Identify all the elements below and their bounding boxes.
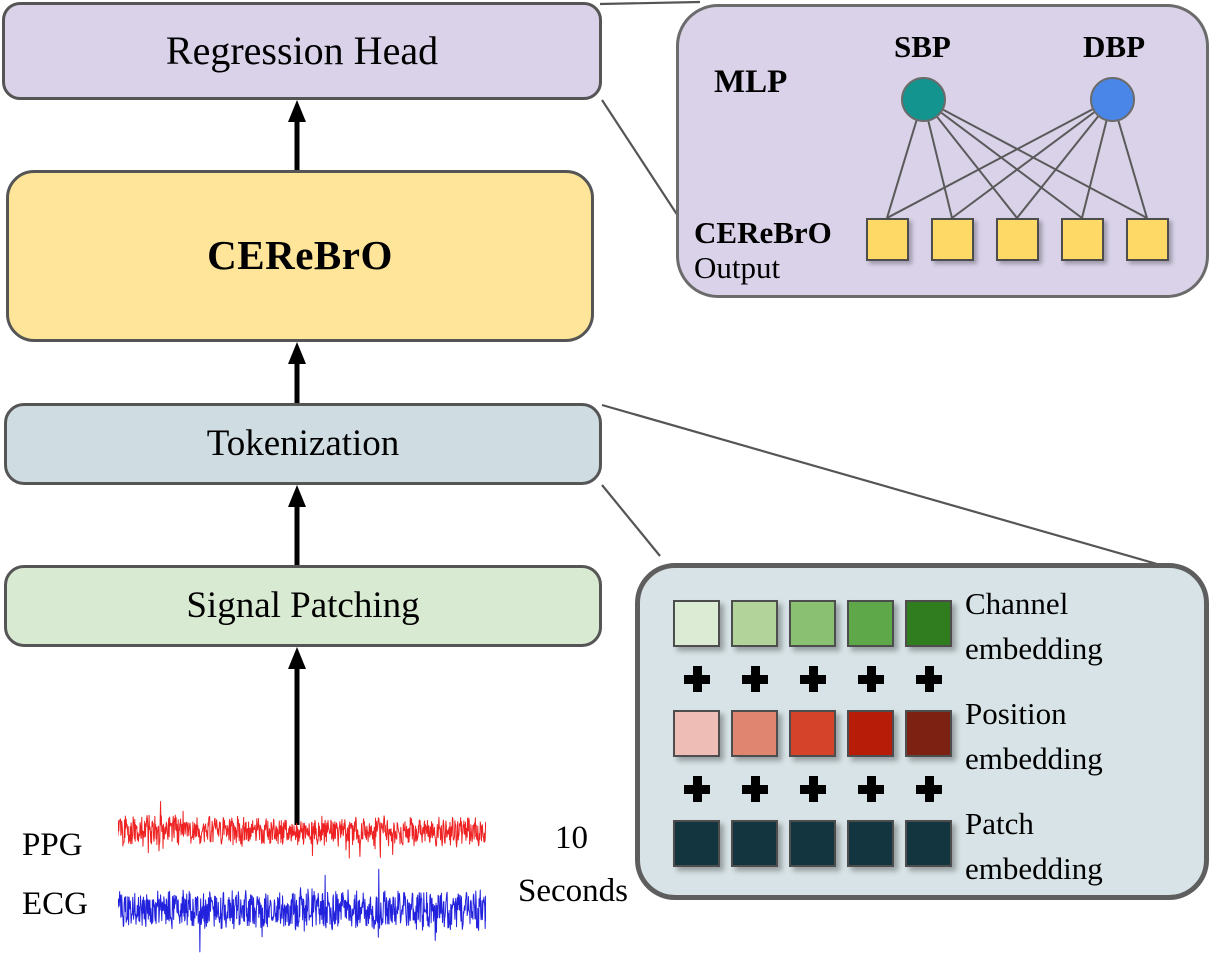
embedding-cell[interactable] [905,710,952,757]
embedding-cell[interactable] [789,710,836,757]
connector-regression-bottom [602,100,678,216]
embedding-cell[interactable] [731,710,778,757]
embedding-cell[interactable] [905,600,952,647]
ppg-signal-label: PPG [22,827,83,864]
embedding-cell[interactable] [673,600,720,647]
diagram-canvas: Regression Head CEReBrO Tokenization Sig… [0,0,1213,958]
duration-unit-label: Seconds [518,873,628,910]
plus-icon [800,776,826,802]
ppg-waveform [118,795,486,867]
embedding-row-label-line2: embedding [965,633,1103,664]
plus-icon [916,776,942,802]
embedding-cell[interactable] [731,820,778,867]
mlp-output-cell[interactable] [996,218,1039,261]
embedding-cell[interactable] [847,710,894,757]
sbp-node-label: SBP [894,29,951,65]
embedding-detail-panel: ChannelembeddingPositionembeddingPatchem… [635,563,1209,900]
plus-icon [742,666,768,692]
embedding-cell[interactable] [789,600,836,647]
plus-icon [858,666,884,692]
connector-regression-top [600,2,700,4]
embedding-cell[interactable] [905,820,952,867]
cerebro-model-box[interactable]: CEReBrO [6,170,594,342]
embedding-row-label-line1: Patch [965,808,1034,839]
plus-icon [742,776,768,802]
plus-icon [684,666,710,692]
arrow-shaft [295,360,300,404]
cerebro-model-label: CEReBrO [207,234,393,277]
embedding-row-label-line1: Channel [965,588,1068,619]
mlp-output-source-line1: CEReBrO [694,215,832,251]
plus-icon [858,776,884,802]
embedding-row-label-line2: embedding [965,853,1103,884]
regression-head-label: Regression Head [166,30,438,72]
mlp-detail-panel: MLP CEReBrO Output SBP DBP [676,4,1209,298]
plus-icon [916,666,942,692]
dbp-node-label: DBP [1083,29,1145,65]
embedding-cell[interactable] [847,820,894,867]
sbp-node-circle[interactable] [901,77,946,122]
arrow-shaft [295,503,300,565]
tokenization-label: Tokenization [207,425,400,464]
embedding-cell[interactable] [731,600,778,647]
plus-icon [684,776,710,802]
mlp-output-cell[interactable] [1126,218,1169,261]
mlp-output-cell[interactable] [866,218,909,261]
embedding-cell[interactable] [847,600,894,647]
connector-token-top [602,405,1185,572]
mlp-output-source-line2: Output [694,250,780,286]
mlp-output-cell[interactable] [1061,218,1104,261]
embedding-cell[interactable] [673,710,720,757]
embedding-cell[interactable] [789,820,836,867]
embedding-row-label-line1: Position [965,698,1067,729]
signal-patching-box[interactable]: Signal Patching [4,565,602,647]
embedding-row-label-line2: embedding [965,743,1103,774]
plus-icon [800,666,826,692]
duration-number-label: 10 [555,820,588,857]
mlp-output-cell[interactable] [931,218,974,261]
waveform-trace [118,802,486,859]
mlp-title-label: MLP [714,64,787,101]
dbp-node-circle[interactable] [1090,77,1135,122]
arrow-shaft [295,118,300,170]
ecg-waveform [118,862,486,958]
tokenization-box[interactable]: Tokenization [4,403,602,485]
ecg-signal-label: ECG [22,886,88,923]
embedding-cell[interactable] [673,820,720,867]
regression-head-box[interactable]: Regression Head [2,2,602,100]
signal-patching-label: Signal Patching [186,587,419,626]
connector-token-bottom [602,485,660,556]
waveform-trace [118,869,486,952]
